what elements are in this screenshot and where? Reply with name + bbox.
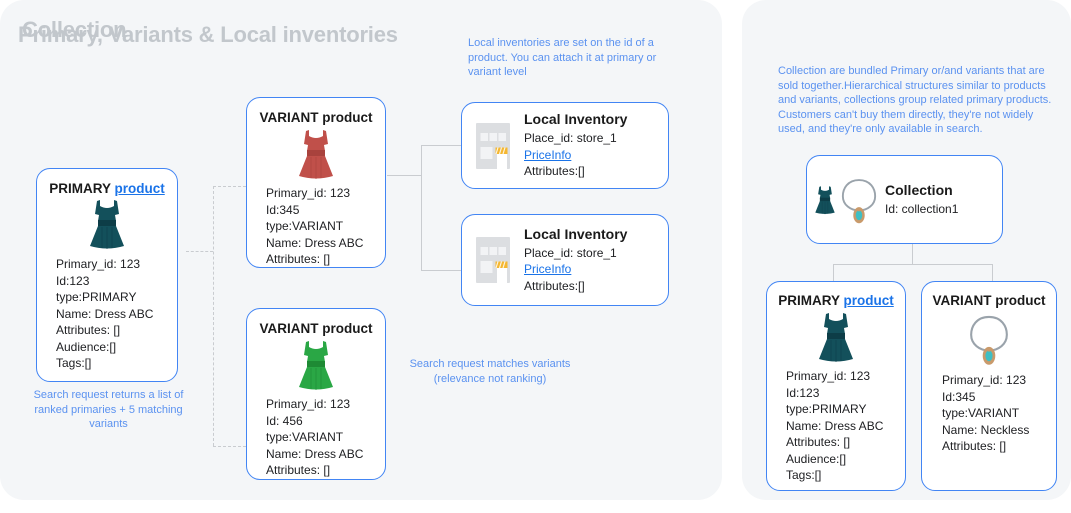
card-title-primary-left: PRIMARY product [37,181,177,196]
card-primary-product-right[interactable]: PRIMARY product Primary_id: 123 Id:123 t… [766,281,906,491]
field-primary-id: Primary_id: 123 [942,372,1056,389]
note-local-inventory: Local inventories are set on the id of a… [468,36,668,80]
field-id: Id:345 [266,202,385,219]
connector-bus-to-inventory-2 [421,270,461,271]
connector-bus-to-variant-necklace [992,264,993,282]
field-place-id: Place_id: store_1 [524,245,660,262]
field-primary-id: Primary_id: 123 [266,185,385,202]
card-fields-variant-necklace: Primary_id: 123 Id:345 type:VARIANT Name… [942,372,1056,455]
card-title-collection: Collection [885,182,996,198]
field-attributes: Attributes: [] [786,434,905,451]
field-tags: Tags:[] [786,467,905,484]
card-fields-primary-right: Primary_id: 123 Id:123 type:PRIMARY Name… [786,368,905,484]
connector-inventory-bus [421,145,422,270]
field-type: type:VARIANT [266,218,385,235]
card-fields-variant-green: Primary_id: 123 Id: 456 type:VARIANT Nam… [266,396,385,479]
card-primary-product-left[interactable]: PRIMARY product Primary_id: 123 Id:123 t… [36,168,178,382]
card-local-inventory-1[interactable]: Local Inventory Place_id: store_1 PriceI… [461,102,669,189]
connector-collection-bus [833,264,992,265]
field-type: type:VARIANT [942,405,1056,422]
card-title-primary-right: PRIMARY product [767,293,905,308]
dress-teal-icon [813,177,837,223]
field-collection-id: Id: collection1 [885,201,996,218]
field-type: type:VARIANT [266,429,385,446]
field-id: Id: 456 [266,413,385,430]
connector-variant-to-inventory-bus [387,175,421,176]
field-name: Name: Dress ABC [266,235,385,252]
dress-teal-icon [37,196,177,252]
connector-bus-to-primary-right [833,264,834,282]
field-attributes: Attributes: [] [56,322,177,339]
field-id: Id:345 [942,389,1056,406]
field-name: Name: Dress ABC [266,446,385,463]
necklace-icon [837,175,881,225]
card-title-local-inventory-2: Local Inventory [524,226,660,242]
field-attributes: Attributes:[] [524,163,660,180]
store-icon [462,121,524,171]
field-audience: Audience:[] [786,451,905,468]
store-icon [462,235,524,285]
dress-teal-icon [767,308,905,366]
field-attributes: Attributes: [] [266,251,385,268]
dress-red-icon [247,125,385,183]
card-variant-product-red[interactable]: VARIANT product Primary_id: 123 Id:345 t… [246,97,386,268]
connector-primary-to-bus [186,251,213,252]
card-title-text: PRIMARY [778,293,840,308]
card-variant-product-green[interactable]: VARIANT product Primary_id: 123 Id: 456 … [246,308,386,480]
product-link[interactable]: product [115,181,165,196]
product-link[interactable]: product [844,293,894,308]
priceinfo-link[interactable]: PriceInfo [524,148,571,162]
note-collection: Collection are bundled Primary or/and va… [778,64,1058,137]
field-place-id: Place_id: store_1 [524,130,660,147]
necklace-icon [922,308,1056,370]
field-audience: Audience:[] [56,339,177,356]
dress-green-icon [247,336,385,394]
field-type: type:PRIMARY [786,401,905,418]
card-fields-local-inventory-2: Place_id: store_1 PriceInfo Attributes:[… [524,245,660,295]
card-variant-product-necklace[interactable]: VARIANT product Primary_id: 123 Id:345 t… [921,281,1057,491]
card-fields-variant-red: Primary_id: 123 Id:345 type:VARIANT Name… [266,185,385,268]
connector-variant-bus [213,186,214,446]
card-collection[interactable]: Collection Id: collection1 [806,155,1003,244]
field-primary-id: Primary_id: 123 [56,256,177,273]
card-title-variant-green: VARIANT product [247,321,385,336]
connector-bus-to-variant-green [213,446,246,447]
card-title-variant-red: VARIANT product [247,110,385,125]
field-id: Id:123 [786,385,905,402]
field-name: Name: Dress ABC [786,418,905,435]
field-type: type:PRIMARY [56,289,177,306]
card-local-inventory-2[interactable]: Local Inventory Place_id: store_1 PriceI… [461,214,669,306]
card-fields-primary-left: Primary_id: 123 Id:123 type:PRIMARY Name… [56,256,177,372]
note-search-primary: Search request returns a list of ranked … [26,388,191,432]
connector-bus-to-variant-red [213,186,246,187]
field-attributes: Attributes: [] [266,462,385,479]
field-attributes: Attributes:[] [524,278,660,295]
panel-right-title: Collection [22,17,126,43]
field-name: Name: Dress ABC [56,306,177,323]
diagram-canvas: Primary, Variants & Local inventories Co… [0,0,1071,513]
card-fields-collection: Id: collection1 [885,201,996,218]
field-tags: Tags:[] [56,355,177,372]
note-search-variant: Search request matches variants (relevan… [405,357,575,386]
field-attributes: Attributes: [] [942,438,1056,455]
field-primary-id: Primary_id: 123 [786,368,905,385]
card-title-text: PRIMARY [49,181,111,196]
connector-collection-stem [912,244,913,264]
field-id: Id:123 [56,273,177,290]
connector-bus-to-inventory-1 [421,145,461,146]
priceinfo-link[interactable]: PriceInfo [524,262,571,276]
card-title-local-inventory-1: Local Inventory [524,111,660,127]
field-primary-id: Primary_id: 123 [266,396,385,413]
card-title-variant-necklace: VARIANT product [922,293,1056,308]
card-fields-local-inventory-1: Place_id: store_1 PriceInfo Attributes:[… [524,130,660,180]
field-name: Name: Neckless [942,422,1056,439]
